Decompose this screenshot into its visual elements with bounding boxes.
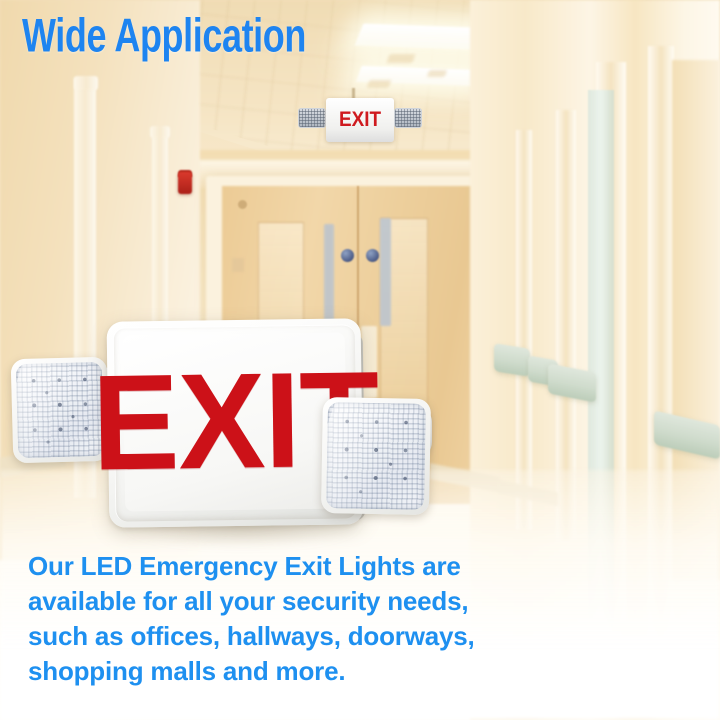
led-lens-right — [326, 402, 426, 510]
led-array-right — [329, 405, 423, 507]
led-array-left — [19, 365, 101, 455]
marketing-banner: EXIT EXIT — [0, 0, 720, 720]
description-line-1: Our LED Emergency Exit Lights are — [28, 549, 548, 584]
description-line-4: shopping malls and more. — [28, 654, 548, 689]
sign-face-panel: EXIT — [123, 332, 347, 511]
led-lamp-head-right — [321, 397, 431, 515]
description-paragraph: Our LED Emergency Exit Lights are availa… — [28, 549, 548, 689]
headline-wide-application: Wide Application — [22, 10, 306, 61]
description-line-2: available for all your security needs, — [28, 584, 548, 619]
description-line-3: such as offices, hallways, doorways, — [28, 619, 548, 654]
